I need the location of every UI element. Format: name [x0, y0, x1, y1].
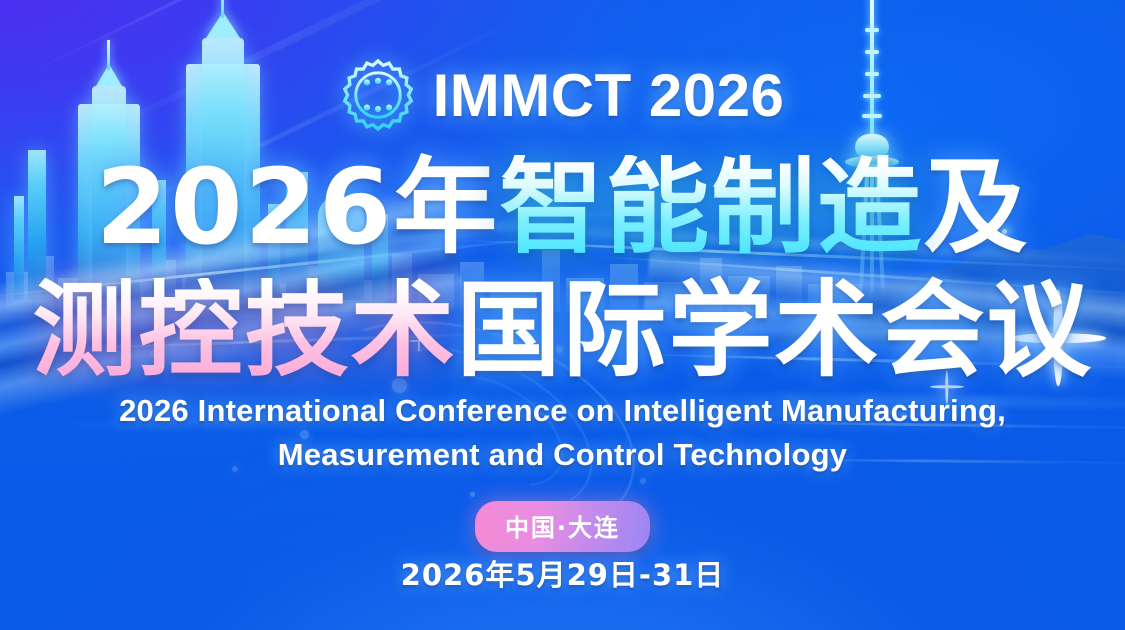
conference-date: 2026年5月29日-31日: [0, 552, 1125, 594]
brand-row: IMMCT 2026: [0, 58, 1125, 132]
title-seg-and: 及: [923, 155, 1029, 259]
gear-circuit-icon: [341, 58, 415, 132]
location-badge: 中国·大连: [475, 501, 650, 552]
english-subtitle-line-1: 2026 International Conference on Intelli…: [0, 390, 1125, 433]
title-seg-measurement-control: 测控技术: [32, 278, 456, 382]
chinese-title-line-2: 测控技术国际学术会议: [0, 278, 1125, 382]
title-seg-international-conference: 国际学术会议: [457, 278, 1093, 382]
title-seg-intelligent-manufacturing: 智能制造: [499, 155, 923, 259]
location-badge-wrap: 中国·大连: [0, 501, 1125, 552]
chinese-title-line-1: 2026年智能制造及: [0, 155, 1125, 259]
title-seg-year: 2026年: [96, 155, 499, 259]
conference-banner: IMMCT 2026 2026年智能制造及 测控技术国际学术会议 2026 In…: [0, 0, 1125, 630]
brand-title: IMMCT 2026: [433, 61, 785, 130]
english-subtitle-line-2: Measurement and Control Technology: [0, 434, 1125, 477]
